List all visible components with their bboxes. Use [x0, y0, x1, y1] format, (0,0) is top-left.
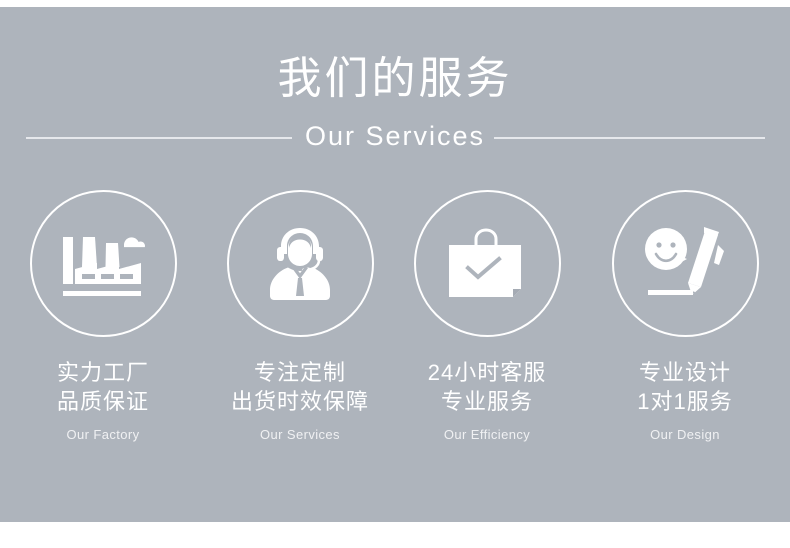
service-label-cn-2: 品质保证: [8, 387, 198, 416]
service-list: 实力工厂 品质保证 Our Factory: [0, 190, 790, 470]
service-label-en: Our Factory: [8, 426, 198, 443]
service-label-cn-2: 出货时效保障: [205, 387, 395, 416]
service-label-cn-2: 1对1服务: [590, 387, 780, 416]
service-item-support[interactable]: 专注定制 出货时效保障 Our Services: [205, 190, 395, 443]
banner-header: 我们的服务 Our Services: [0, 7, 790, 167]
icon-circle: [414, 190, 561, 337]
factory-icon: [61, 229, 145, 299]
service-label-line1: 专注定制 出货时效保障: [205, 358, 395, 416]
service-label-line1: 实力工厂 品质保证: [8, 358, 198, 416]
page-title-cn: 我们的服务: [0, 53, 790, 105]
promo-banner: 我们的服务 Our Services: [0, 0, 790, 548]
service-label-cn-2: 专业服务: [392, 387, 582, 416]
service-label-line1: 24小时客服 专业服务: [392, 358, 582, 416]
service-label-en: Our Services: [205, 426, 395, 443]
gray-panel: 我们的服务 Our Services: [0, 7, 790, 522]
icon-circle: [227, 190, 374, 337]
headset-agent-icon: [260, 226, 340, 302]
shopping-bag-check-icon: [446, 226, 528, 302]
service-label-cn-1: 专业设计: [590, 358, 780, 387]
icon-circle: [612, 190, 759, 337]
smiley-pencil-icon: [643, 225, 727, 303]
service-label-line1: 专业设计 1对1服务: [590, 358, 780, 416]
page-title-en: Our Services: [0, 119, 790, 153]
icon-circle: [30, 190, 177, 337]
service-item-design[interactable]: 专业设计 1对1服务 Our Design: [590, 190, 780, 443]
service-label-cn-1: 专注定制: [205, 358, 395, 387]
service-label-cn-1: 24小时客服: [392, 358, 582, 387]
divider-right: [494, 137, 765, 139]
service-item-efficiency[interactable]: 24小时客服 专业服务 Our Efficiency: [392, 190, 582, 443]
service-label-cn-1: 实力工厂: [8, 358, 198, 387]
service-label-en: Our Design: [590, 426, 780, 443]
service-item-factory[interactable]: 实力工厂 品质保证 Our Factory: [8, 190, 198, 443]
subtitle-row: Our Services: [0, 119, 790, 159]
service-label-en: Our Efficiency: [392, 426, 582, 443]
